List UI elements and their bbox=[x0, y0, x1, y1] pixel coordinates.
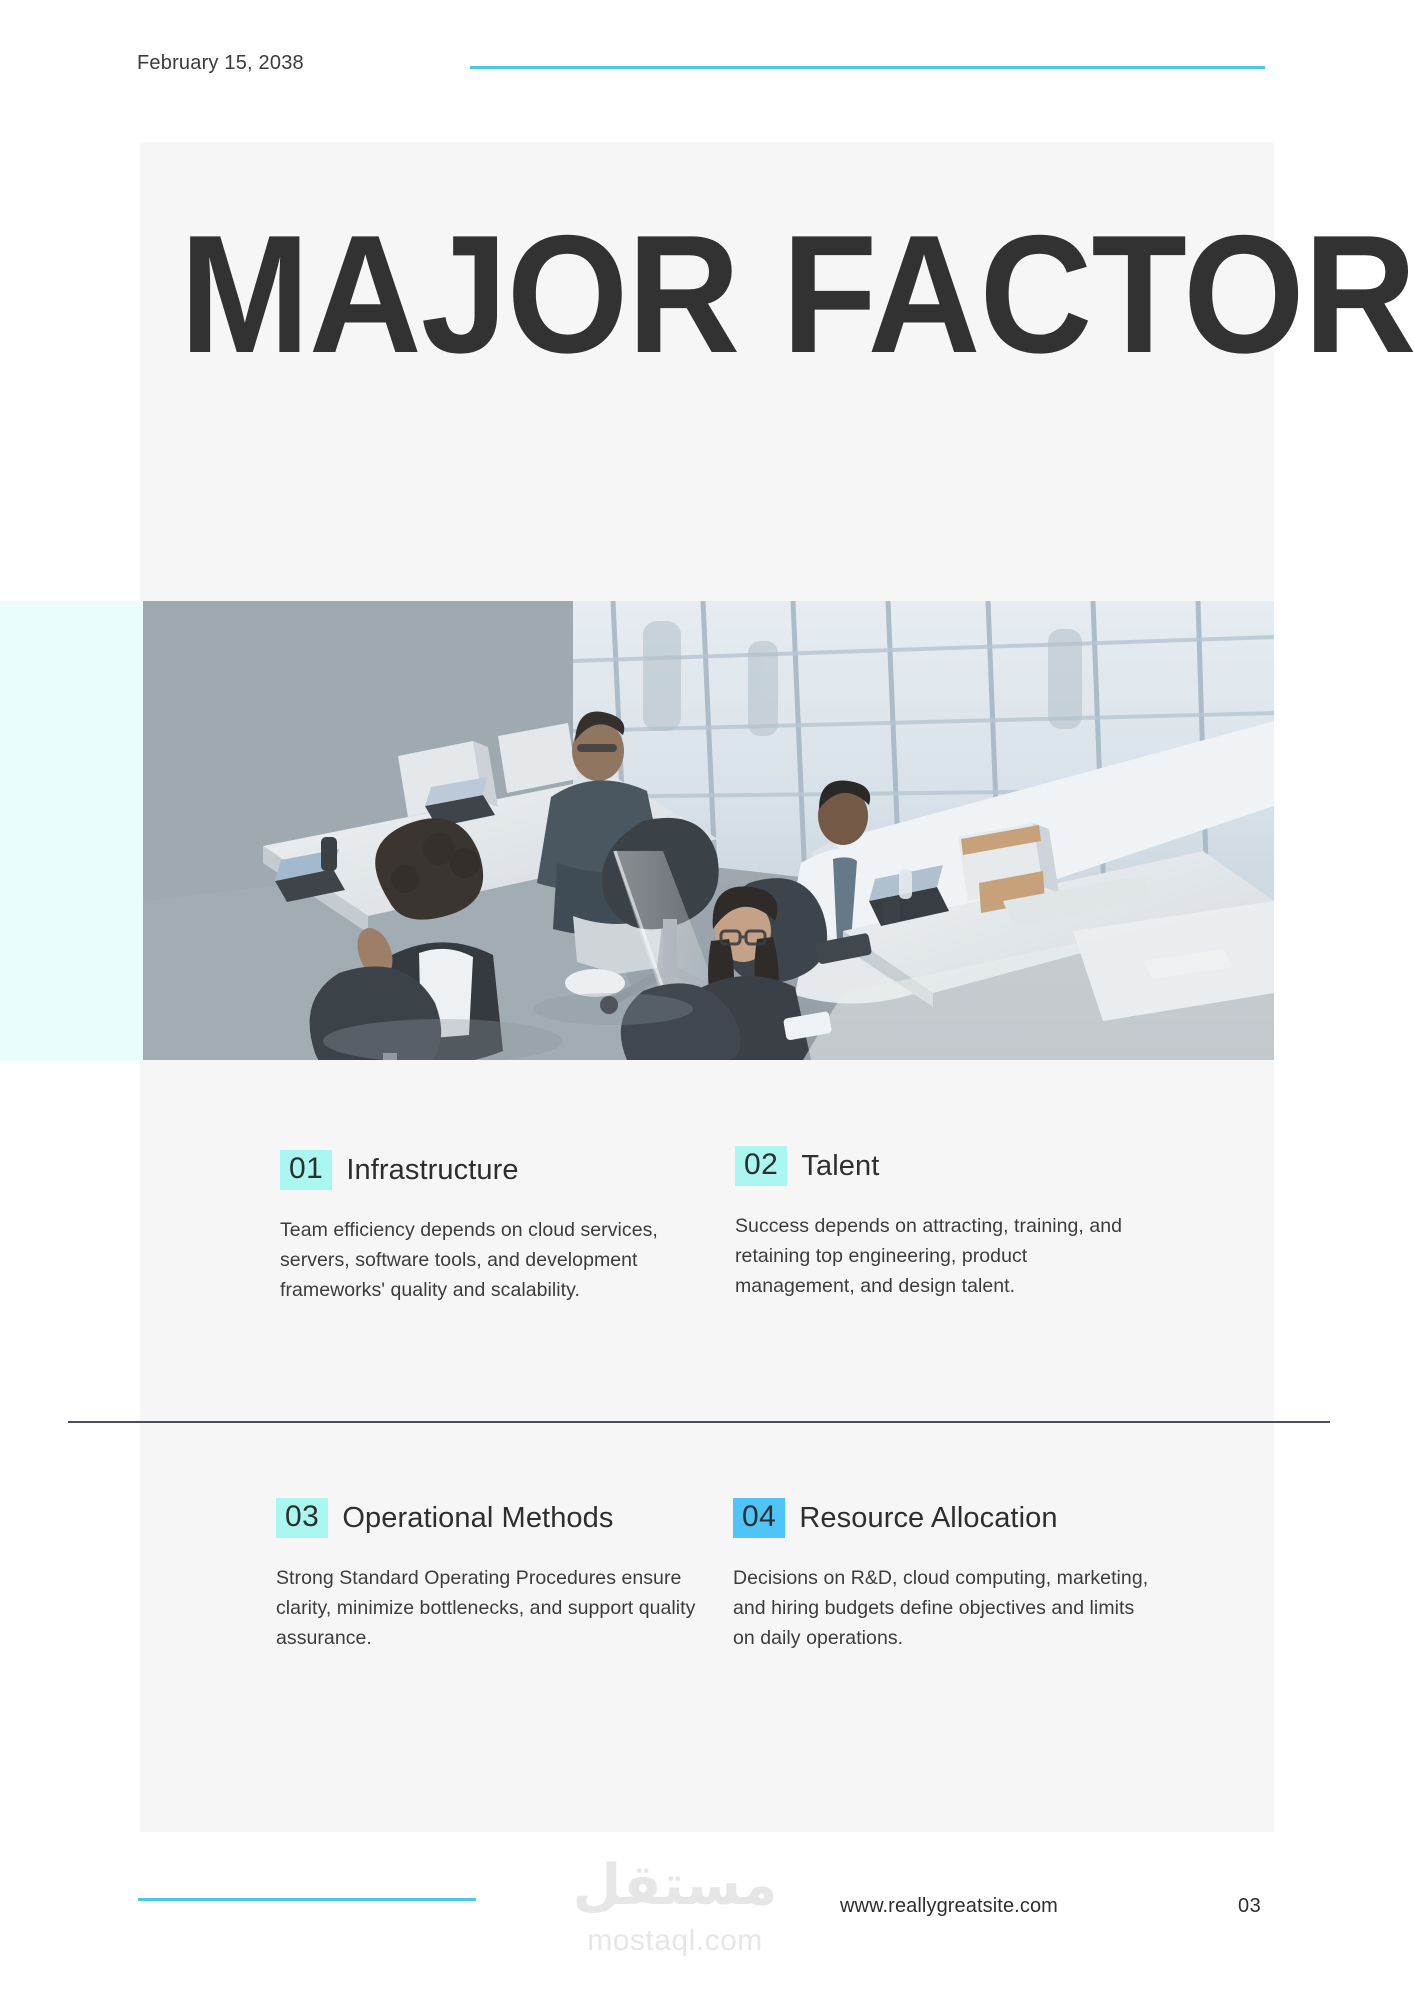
factor-body: Success depends on attracting, training,… bbox=[735, 1212, 1135, 1301]
header-rule bbox=[470, 66, 1265, 69]
office-photo bbox=[143, 601, 1274, 1060]
factor-body: Decisions on R&D, cloud computing, marke… bbox=[733, 1564, 1153, 1653]
watermark-latin-text: mostaql.com bbox=[560, 1920, 790, 1962]
website-url[interactable]: www.reallygreatsite.com bbox=[840, 1895, 1058, 1918]
factor-number-badge: 01 bbox=[280, 1150, 332, 1190]
mint-accent-band bbox=[0, 601, 143, 1061]
footer-rule bbox=[138, 1898, 476, 1901]
section-divider bbox=[68, 1421, 1330, 1423]
factor-title: Infrastructure bbox=[346, 1154, 518, 1187]
factor-body: Team efficiency depends on cloud service… bbox=[280, 1216, 680, 1305]
factor-header: 01 Infrastructure bbox=[280, 1150, 680, 1190]
factor-number-badge: 03 bbox=[276, 1498, 328, 1538]
factor-title: Operational Methods bbox=[342, 1502, 613, 1535]
factor-title: Talent bbox=[801, 1150, 879, 1183]
factor-title: Resource Allocation bbox=[799, 1502, 1057, 1535]
factor-header: 03 Operational Methods bbox=[276, 1498, 696, 1538]
watermark-arabic-text: مستقل bbox=[560, 1858, 790, 1914]
factor-number-badge: 04 bbox=[733, 1498, 785, 1538]
mostaql-watermark: مستقل mostaql.com bbox=[560, 1858, 790, 1988]
factor-header: 04 Resource Allocation bbox=[733, 1498, 1153, 1538]
factor-item-01: 01 Infrastructure Team efficiency depend… bbox=[280, 1150, 680, 1305]
date-label: February 15, 2038 bbox=[137, 52, 304, 75]
factor-item-02: 02 Talent Success depends on attracting,… bbox=[735, 1146, 1135, 1301]
page-title: MAJOR FACTOR bbox=[180, 216, 1235, 372]
factor-body: Strong Standard Operating Procedures ens… bbox=[276, 1564, 696, 1653]
slide-page: February 15, 2038 MAJOR FACTOR bbox=[0, 0, 1414, 2000]
factor-item-03: 03 Operational Methods Strong Standard O… bbox=[276, 1498, 696, 1653]
factor-number-badge: 02 bbox=[735, 1146, 787, 1186]
page-number: 03 bbox=[1238, 1895, 1261, 1918]
factor-item-04: 04 Resource Allocation Decisions on R&D,… bbox=[733, 1498, 1153, 1653]
factor-header: 02 Talent bbox=[735, 1146, 1135, 1186]
